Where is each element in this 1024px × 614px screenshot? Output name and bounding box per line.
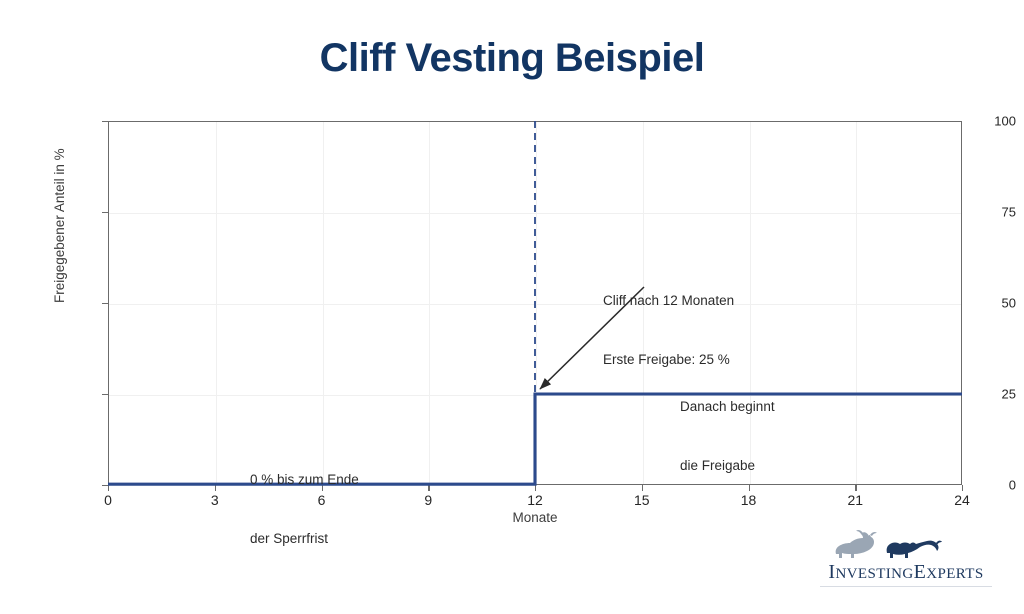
x-tick-mark — [855, 485, 856, 491]
x-tick-mark — [962, 485, 963, 491]
x-tick-label: 24 — [932, 492, 992, 508]
y-tick-mark — [102, 212, 108, 213]
bull-icon — [836, 530, 877, 558]
x-tick-mark — [428, 485, 429, 491]
bear-icon — [887, 541, 942, 558]
y-axis-label: Freigegebener Anteil in % — [52, 148, 67, 303]
logo-divider — [820, 586, 992, 587]
gridline-horizontal — [109, 304, 961, 305]
gridline-vertical — [216, 122, 217, 484]
annotation-cliff-line1: Cliff nach 12 Monaten — [603, 291, 734, 311]
y-tick-mark — [102, 121, 108, 122]
annotation-after-line2: die Freigabe — [680, 456, 775, 476]
x-tick-label: 12 — [505, 492, 565, 508]
x-tick-label: 0 — [78, 492, 138, 508]
y-tick-label: 0 — [954, 478, 1024, 493]
logo-word-two-rest: XPERTS — [926, 566, 983, 582]
logo-animals — [806, 528, 1006, 562]
y-tick-mark — [102, 394, 108, 395]
y-tick-label: 75 — [954, 205, 1024, 220]
page-title: Cliff Vesting Beispiel — [0, 36, 1024, 81]
y-tick-label: 100 — [954, 114, 1024, 129]
logo-word-one-rest: NVESTING — [835, 566, 913, 582]
y-tick-mark — [102, 303, 108, 304]
y-tick-label: 50 — [954, 296, 1024, 311]
x-tick-label: 21 — [825, 492, 885, 508]
x-tick-mark — [642, 485, 643, 491]
x-tick-label: 3 — [185, 492, 245, 508]
x-tick-mark — [108, 485, 109, 491]
x-tick-mark — [215, 485, 216, 491]
annotation-zero-line2: der Sperrfrist — [250, 529, 359, 549]
gridline-vertical — [856, 122, 857, 484]
logo-wordmark: INVESTINGEXPERTS — [806, 561, 1006, 584]
gridline-vertical — [536, 122, 537, 484]
plot-area — [108, 121, 962, 485]
gridline-vertical — [323, 122, 324, 484]
x-tick-label: 15 — [612, 492, 672, 508]
brand-logo: INVESTINGEXPERTS — [806, 528, 1006, 590]
chart-figure: Cliff Vesting Beispiel 0 25 50 75 100 0 … — [0, 0, 1024, 614]
gridline-horizontal — [109, 395, 961, 396]
y-tick-label: 25 — [954, 387, 1024, 402]
x-tick-label: 9 — [398, 492, 458, 508]
annotation-zero-line1: 0 % bis zum Ende — [250, 470, 359, 490]
gridline-vertical — [429, 122, 430, 484]
logo-word-two-cap: E — [914, 561, 927, 583]
gridline-horizontal — [109, 213, 961, 214]
x-tick-mark — [535, 485, 536, 491]
annotation-after-cliff: Danach beginnt die Freigabe — [680, 358, 775, 515]
x-axis-label: Monate — [108, 510, 962, 525]
annotation-after-line1: Danach beginnt — [680, 397, 775, 417]
annotation-zero-period: 0 % bis zum Ende der Sperrfrist — [250, 431, 359, 588]
